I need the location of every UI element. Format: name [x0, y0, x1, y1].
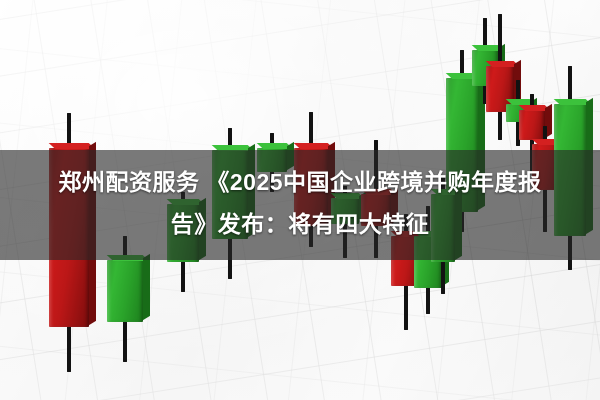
candle-body [107, 260, 143, 322]
headline-text: 郑州配资服务 《2025中国企业跨境并购年度报 告》发布：将有四大特征 [0, 161, 600, 245]
candle-body [519, 110, 545, 140]
screenshot-canvas: 郑州配资服务 《2025中国企业跨境并购年度报 告》发布：将有四大特征 [0, 0, 600, 400]
